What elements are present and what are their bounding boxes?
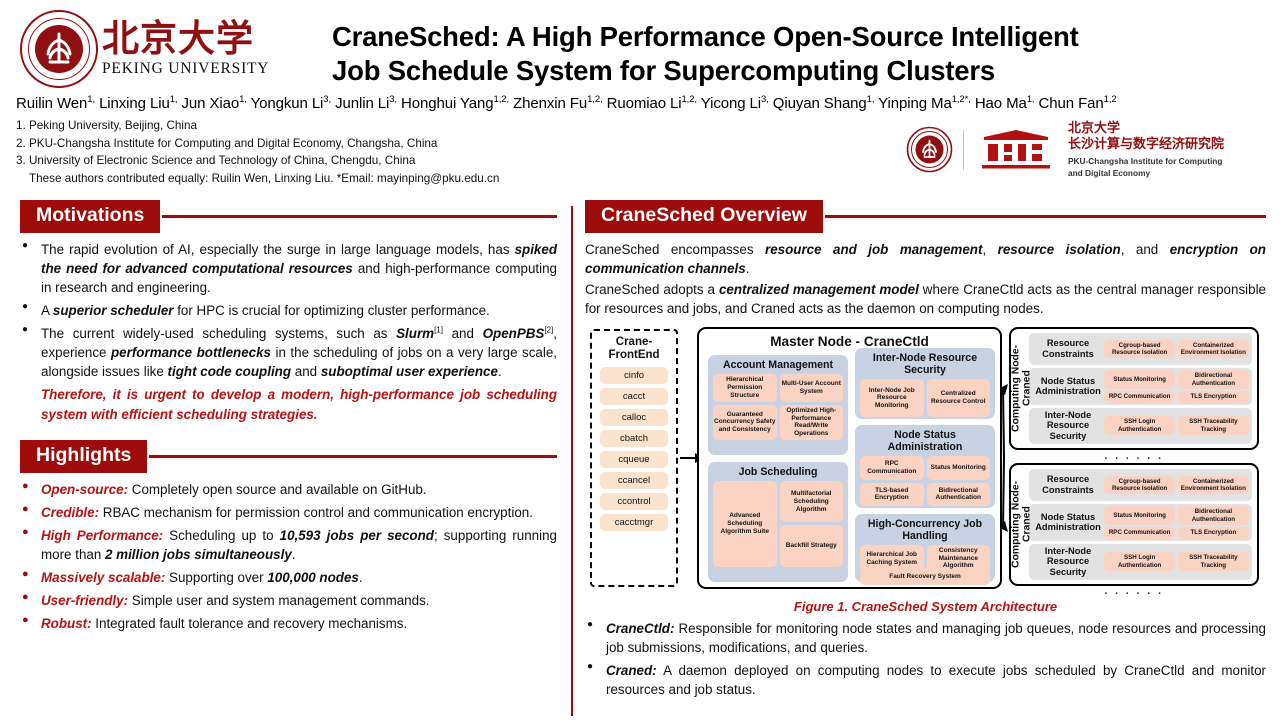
peking-university-seal-icon [20,10,98,88]
frontend-command[interactable]: calloc [600,409,668,426]
group-title: Node Status Administration [860,429,990,453]
feature-cell: Hierarchical Job Caching System [860,545,924,572]
list-item: CraneCtld: Responsible for monitoring no… [585,619,1266,657]
frontend-title: Crane- FrontEnd [592,336,676,363]
node-capability-cells: Cgroup-based Resource IsolationContainer… [1104,340,1249,359]
highlights-rule [149,455,557,458]
group-title: High-Concurrency Job Handling [860,518,990,542]
feature-cell: TLS Encryption [1178,527,1249,538]
section-overview: CraneSched Overview CraneSched encompass… [585,200,1266,319]
feature-cell: Containerized Environment Isolation [1178,476,1249,495]
frontend-command[interactable]: cqueue [600,451,668,468]
group-cells: Inter-Node Job Resource MonitoringCentra… [860,379,990,417]
node-capability-cells: SSH Login AuthenticationSSH Traceability… [1104,416,1249,435]
node-capability-label: Inter-Node Resource Security [1032,546,1104,578]
overview-header: CraneSched Overview [585,200,1266,233]
feature-cell: Bidirectional Authentication [1178,370,1249,389]
feature-cell: Guaranteed Concurrency Safety and Consis… [713,405,777,440]
frontend-title-line-2: FrontEnd [592,349,676,363]
frontend-command[interactable]: cacctmgr [600,514,668,531]
group-cells: Advanced Scheduling Algorithm SuiteMulti… [713,481,843,567]
institute-name-en-1: PKU-Changsha Institute for Computing [1068,156,1224,167]
feature-cell: Status Monitoring [1104,370,1175,389]
frontend-command[interactable]: ccontrol [600,493,668,510]
column-divider [571,206,573,716]
affiliation-2: 2. PKU-Changsha Institute for Computing … [16,135,906,153]
group-cells-top: Hierarchical Job Caching SystemConsisten… [860,545,990,565]
affiliation-3: 3. University of Electronic Science and … [16,152,906,170]
left-column: Motivations The rapid evolution of AI, e… [0,200,565,720]
feature-cell: Bidirectional Authentication [927,483,991,507]
node-capability-row: Resource ConstraintsCgroup-based Resourc… [1029,469,1252,502]
group-inter-node-resource-security: Inter-Node Resource Security Inter-Node … [855,348,995,419]
node-capability-cells: Status MonitoringBidirectional Authentic… [1104,370,1249,402]
feature-cell: TLS Encryption [1178,391,1249,402]
group-title-text: High-Concurrency Job Handling [868,518,982,542]
frontend-title-line-1: Crane- [592,336,676,350]
highlights-heading: Highlights [20,440,147,472]
motivations-heading: Motivations [20,200,160,232]
computing-node-rows: Resource ConstraintsCgroup-based Resourc… [1029,333,1252,444]
frontend-command[interactable]: cacct [600,388,668,405]
list-item: The rapid evolution of AI, especially th… [20,240,557,297]
group-high-concurrency-job-handling: High-Concurrency Job Handling Hierarchic… [855,514,995,582]
list-item: Craned: A daemon deployed on computing n… [585,661,1266,699]
node-capability-row: Inter-Node Resource SecuritySSH Login Au… [1029,408,1252,444]
feature-cell: Containerized Environment Isolation [1178,340,1249,359]
list-item: Credible: RBAC mechanism for permission … [20,503,557,522]
overview-rule [825,215,1266,218]
overview-paragraph-2: CraneSched adopts a centralized manageme… [585,280,1266,319]
title-line-2: Job Schedule System for Supercomputing C… [332,54,1266,88]
node-capability-row: Inter-Node Resource SecuritySSH Login Au… [1029,544,1252,580]
feature-cell: RPC Communication [1104,527,1175,538]
frontend-command[interactable]: cinfo [600,367,668,384]
list-item: Robust: Integrated fault tolerance and r… [20,614,557,633]
feature-cell: Cgroup-based Resource Isolation [1104,476,1175,495]
node-capability-row: Node Status AdministrationStatus Monitor… [1029,504,1252,540]
motivations-rule [162,215,557,218]
section-motivations: Motivations The rapid evolution of AI, e… [20,200,557,424]
feature-cell: Backfill Strategy [780,525,844,567]
computing-node-box-1: Computing Node-Craned Resource Constrain… [1009,327,1259,450]
list-item: User-friendly: Simple user and system ma… [20,591,557,610]
group-cells: Hierarchical Permission StructureMulti-U… [713,374,843,440]
group-node-status-administration: Node Status Administration RPC Communica… [855,425,995,508]
group-job-scheduling: Job Scheduling Advanced Scheduling Algor… [708,462,848,582]
node-capability-label: Node Status Administration [1032,512,1104,533]
poster-header: 北京大学 PEKING UNIVERSITY CraneSched: A Hig… [0,0,1280,88]
list-item: High Performance: Scheduling up to 10,59… [20,526,557,564]
affiliation-1: 1. Peking University, Beijing, China [16,117,906,135]
node-capability-cells: Status MonitoringBidirectional Authentic… [1104,506,1249,538]
feature-cell: TLS-based Encryption [860,483,924,507]
node-capability-label: Inter-Node Resource Security [1032,410,1104,442]
feature-cell: Bidirectional Authentication [1178,506,1249,525]
feature-cell: Multi-User Account System [780,374,844,402]
list-item: Massively scalable: Supporting over 100,… [20,568,557,587]
overview-paragraph-1: CraneSched encompasses resource and job … [585,240,1266,279]
feature-cell: SSH Traceability Tracking [1178,552,1249,571]
poster-body: Motivations The rapid evolution of AI, e… [0,200,1280,720]
group-title: Inter-Node Resource Security [860,352,990,376]
list-item: A superior scheduler for HPC is crucial … [20,301,557,320]
logo-divider [963,130,964,170]
crane-frontend-box: Crane- FrontEnd cinfocacctcalloccbatchcq… [590,329,678,587]
feature-cell: SSH Login Authentication [1104,552,1175,571]
institute-name-en-2: and Digital Economy [1068,168,1224,179]
peking-university-seal-small-icon [906,126,953,173]
institute-logo-block: 北京大学 长沙计算与数字经济研究院 PKU-Changsha Institute… [906,117,1266,179]
highlights-bullet-list: Open-source: Completely open source and … [20,480,557,633]
list-item: The current widely-used scheduling syste… [20,324,557,381]
feature-cell: Status Monitoring [927,456,991,480]
highlights-header: Highlights [20,440,557,473]
node-capability-cells: Cgroup-based Resource IsolationContainer… [1104,476,1249,495]
feature-cell: SSH Login Authentication [1104,416,1175,435]
group-cells: RPC CommunicationStatus MonitoringTLS-ba… [860,456,990,506]
node-capability-row: Node Status AdministrationStatus Monitor… [1029,368,1252,404]
frontend-command[interactable]: cbatch [600,430,668,447]
feature-cell: Optimized High-Performance Read/Write Op… [780,405,844,440]
group-title: Account Management [713,359,843,371]
feature-cell: Multifactorial Scheduling Algorithm [780,481,844,523]
frontend-command[interactable]: ccancel [600,472,668,489]
poster-root: 北京大学 PEKING UNIVERSITY CraneSched: A Hig… [0,0,1280,720]
node-capability-label: Node Status Administration [1032,376,1104,397]
feature-cell: Advanced Scheduling Algorithm Suite [713,481,777,567]
feature-cell: Centralized Resource Control [927,379,991,417]
master-node-box: Master Node - CraneCtld Account Manageme… [697,327,1002,589]
pku-name-cn: 北京大学 [102,20,269,59]
group-title: Job Scheduling [713,466,843,478]
motivations-bullet-list: The rapid evolution of AI, especially th… [20,240,557,381]
figure-caption: Figure 1. CraneSched System Architecture [585,599,1266,614]
page-title: CraneSched: A High Performance Open-Sour… [332,20,1266,87]
computing-node-rows: Resource ConstraintsCgroup-based Resourc… [1029,469,1252,580]
node-capability-label: Resource Constraints [1032,474,1104,495]
equal-contribution-note: These authors contributed equally: Ruili… [16,170,906,188]
right-column: CraneSched Overview CraneSched encompass… [579,200,1280,720]
feature-cell: RPC Communication [1104,391,1175,402]
computing-node-label: Computing Node-Craned [1014,469,1029,580]
pku-changsha-institute-icon [974,127,1058,173]
institute-name-cn-1: 北京大学 [1068,121,1224,137]
pku-wordmark: 北京大学 PEKING UNIVERSITY [102,20,269,79]
feature-cell: Status Monitoring [1104,506,1175,525]
list-item: Open-source: Completely open source and … [20,480,557,499]
feature-cell: Inter-Node Job Resource Monitoring [860,379,924,417]
group-account-management: Account Management Hierarchical Permissi… [708,355,848,455]
institute-name-cn-2: 长沙计算与数字经济研究院 [1068,137,1224,153]
node-capability-label: Resource Constraints [1032,338,1104,359]
node-ellipsis-2: · · · · · · [1009,588,1259,600]
affiliation-row: 1. Peking University, Beijing, China 2. … [0,112,1280,187]
pku-logo-block: 北京大学 PEKING UNIVERSITY [14,10,314,88]
computing-node-box-2: Computing Node-Craned Resource Constrain… [1009,463,1259,586]
author-list: Ruilin Wen1, Linxing Liu1, Jun Xiao1, Yo… [0,88,1280,112]
feature-cell: RPC Communication [860,456,924,480]
feature-cell: Hierarchical Permission Structure [713,374,777,402]
feature-cell: SSH Traceability Tracking [1178,416,1249,435]
feature-cell: Cgroup-based Resource Isolation [1104,340,1175,359]
computing-node-label: Computing Node-Craned [1014,333,1029,444]
pku-name-en: PEKING UNIVERSITY [102,60,269,78]
institute-names: 北京大学 长沙计算与数字经济研究院 PKU-Changsha Institute… [1068,121,1224,179]
overview-heading: CraneSched Overview [585,200,823,232]
title-line-1: CraneSched: A High Performance Open-Sour… [332,20,1266,54]
motivations-header: Motivations [20,200,557,233]
component-bullet-list: CraneCtld: Responsible for monitoring no… [585,619,1266,699]
node-capability-row: Resource ConstraintsCgroup-based Resourc… [1029,333,1252,366]
frontend-command-list: cinfocacctcalloccbatchcqueueccancelccont… [592,367,676,531]
node-capability-cells: SSH Login AuthenticationSSH Traceability… [1104,552,1249,571]
affiliations: 1. Peking University, Beijing, China 2. … [16,117,906,187]
master-node-title: Master Node - CraneCtld [699,334,1000,349]
feature-cell: Consistency Maintenance Algorithm [927,545,991,572]
section-highlights: Highlights Open-source: Completely open … [20,440,557,633]
motivations-conclusion: Therefore, it is urgent to develop a mod… [41,385,557,424]
architecture-figure: Crane- FrontEnd cinfocacctcalloccbatchcq… [585,327,1265,597]
title-block: CraneSched: A High Performance Open-Sour… [314,10,1266,87]
